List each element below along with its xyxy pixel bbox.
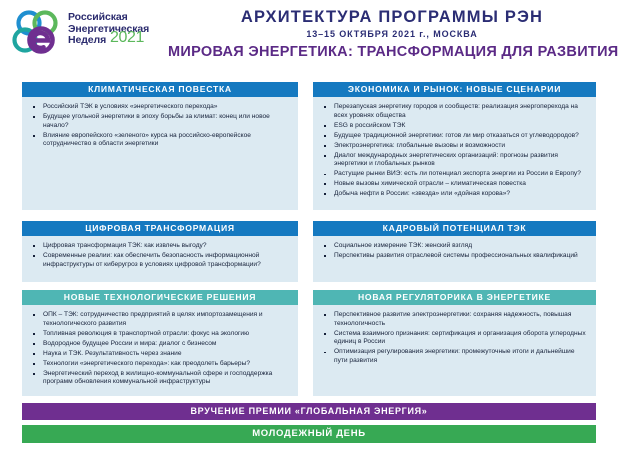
bar-label-global-energy-prize: ВРУЧЕНИЕ ПРЕМИИ «ГЛОБАЛЬНАЯ ЭНЕРГИЯ» — [190, 406, 427, 416]
panel-new-tech-solutions: НОВЫЕ ТЕХНОЛОГИЧЕСКИЕ РЕШЕНИЯ ОПК – ТЭК:… — [22, 290, 298, 396]
panel-body-digital-transformation: Цифровая трансформация ТЭК: как извлечь … — [22, 236, 298, 275]
list-item: Будущее угольной энергетики в эпоху борь… — [30, 113, 290, 130]
panel-title-digital-transformation: ЦИФРОВАЯ ТРАНСФОРМАЦИЯ — [22, 221, 298, 236]
list-item: Перспективы развития отраслевой системы … — [321, 252, 588, 261]
list-item: Перспективное развитие электроэнергетики… — [321, 311, 588, 328]
list-item: Водородное будущее России и мира: диалог… — [30, 340, 290, 349]
bullet-list-digital-transformation: Цифровая трансформация ТЭК: как извлечь … — [30, 242, 290, 269]
list-item: Добыча нефти в России: «звезда» или «дой… — [321, 190, 588, 199]
bullet-list-new-regulation: Перспективное развитие электроэнергетики… — [321, 311, 588, 365]
list-item: Влияние европейского «зеленого» курса на… — [30, 132, 290, 149]
list-item: Диалог международных энергетических орга… — [321, 152, 588, 169]
list-item: Будущее традиционной энергетики: готов л… — [321, 132, 588, 141]
panel-new-regulation: НОВАЯ РЕГУЛЯТОРИКА В ЭНЕРГЕТИКЕ Перспект… — [313, 290, 596, 396]
panel-body-new-tech-solutions: ОПК – ТЭК: сотрудничество предприятий в … — [22, 305, 298, 392]
list-item: Технологии «энергетического перехода»: к… — [30, 360, 290, 369]
panel-body-economy-market: Перезапуская энергетику городов и сообще… — [313, 97, 596, 204]
bar-youth-day: МОЛОДЕЖНЫЙ ДЕНЬ — [22, 425, 596, 443]
panel-digital-transformation: ЦИФРОВАЯ ТРАНСФОРМАЦИЯ Цифровая трансфор… — [22, 221, 298, 282]
panel-body-new-regulation: Перспективное развитие электроэнергетики… — [313, 305, 596, 371]
list-item: Наука и ТЭК. Результативность через знан… — [30, 350, 290, 359]
list-item: ESG в российском ТЭК — [321, 122, 588, 131]
list-item: ОПК – ТЭК: сотрудничество предприятий в … — [30, 311, 290, 328]
list-item: Система взаимного признания: сертификаци… — [321, 330, 588, 347]
list-item: Оптимизация регулирования энергетики: пр… — [321, 348, 588, 365]
list-item: Энергетический переход в жилищно-коммуна… — [30, 370, 290, 387]
panel-grid: КЛИМАТИЧЕСКАЯ ПОВЕСТКА Российский ТЭК в … — [0, 0, 624, 468]
panel-hr-potential: КАДРОВЫЙ ПОТЕНЦИАЛ ТЭК Социальное измере… — [313, 221, 596, 282]
list-item: Электроэнергетика: глобальные вызовы и в… — [321, 142, 588, 151]
list-item: Перезапуская энергетику городов и сообще… — [321, 103, 588, 120]
slide-root: Российская Энергетическая Неделя 2021 АР… — [0, 0, 624, 468]
bullet-list-economy-market: Перезапуская энергетику городов и сообще… — [321, 103, 588, 199]
list-item: Топливная революция в транспортной отрас… — [30, 330, 290, 339]
panel-title-economy-market: ЭКОНОМИКА И РЫНОК: НОВЫЕ СЦЕНАРИИ — [313, 82, 596, 97]
list-item: Социальное измерение ТЭК: женский взгляд — [321, 242, 588, 251]
bullet-list-hr-potential: Социальное измерение ТЭК: женский взгляд… — [321, 242, 588, 261]
list-item: Цифровая трансформация ТЭК: как извлечь … — [30, 242, 290, 251]
panel-climate-agenda: КЛИМАТИЧЕСКАЯ ПОВЕСТКА Российский ТЭК в … — [22, 82, 298, 210]
bullet-list-new-tech-solutions: ОПК – ТЭК: сотрудничество предприятий в … — [30, 311, 290, 387]
panel-title-new-tech-solutions: НОВЫЕ ТЕХНОЛОГИЧЕСКИЕ РЕШЕНИЯ — [22, 290, 298, 305]
list-item: Современные реалии: как обеспечить безоп… — [30, 252, 290, 269]
list-item: Российский ТЭК в условиях «энергетическо… — [30, 103, 290, 112]
bar-global-energy-prize: ВРУЧЕНИЕ ПРЕМИИ «ГЛОБАЛЬНАЯ ЭНЕРГИЯ» — [22, 403, 596, 420]
list-item: Растущие рынки ВИЭ: есть ли потенциал эк… — [321, 170, 588, 179]
list-item: Новые вызовы химической отрасли – климат… — [321, 180, 588, 189]
bar-label-youth-day: МОЛОДЕЖНЫЙ ДЕНЬ — [252, 428, 366, 439]
panel-title-hr-potential: КАДРОВЫЙ ПОТЕНЦИАЛ ТЭК — [313, 221, 596, 236]
panel-title-climate-agenda: КЛИМАТИЧЕСКАЯ ПОВЕСТКА — [22, 82, 298, 97]
bullet-list-climate-agenda: Российский ТЭК в условиях «энергетическо… — [30, 103, 290, 149]
panel-body-climate-agenda: Российский ТЭК в условиях «энергетическо… — [22, 97, 298, 154]
panel-economy-market: ЭКОНОМИКА И РЫНОК: НОВЫЕ СЦЕНАРИИ Переза… — [313, 82, 596, 210]
panel-title-new-regulation: НОВАЯ РЕГУЛЯТОРИКА В ЭНЕРГЕТИКЕ — [313, 290, 596, 305]
panel-body-hr-potential: Социальное измерение ТЭК: женский взгляд… — [313, 236, 596, 266]
